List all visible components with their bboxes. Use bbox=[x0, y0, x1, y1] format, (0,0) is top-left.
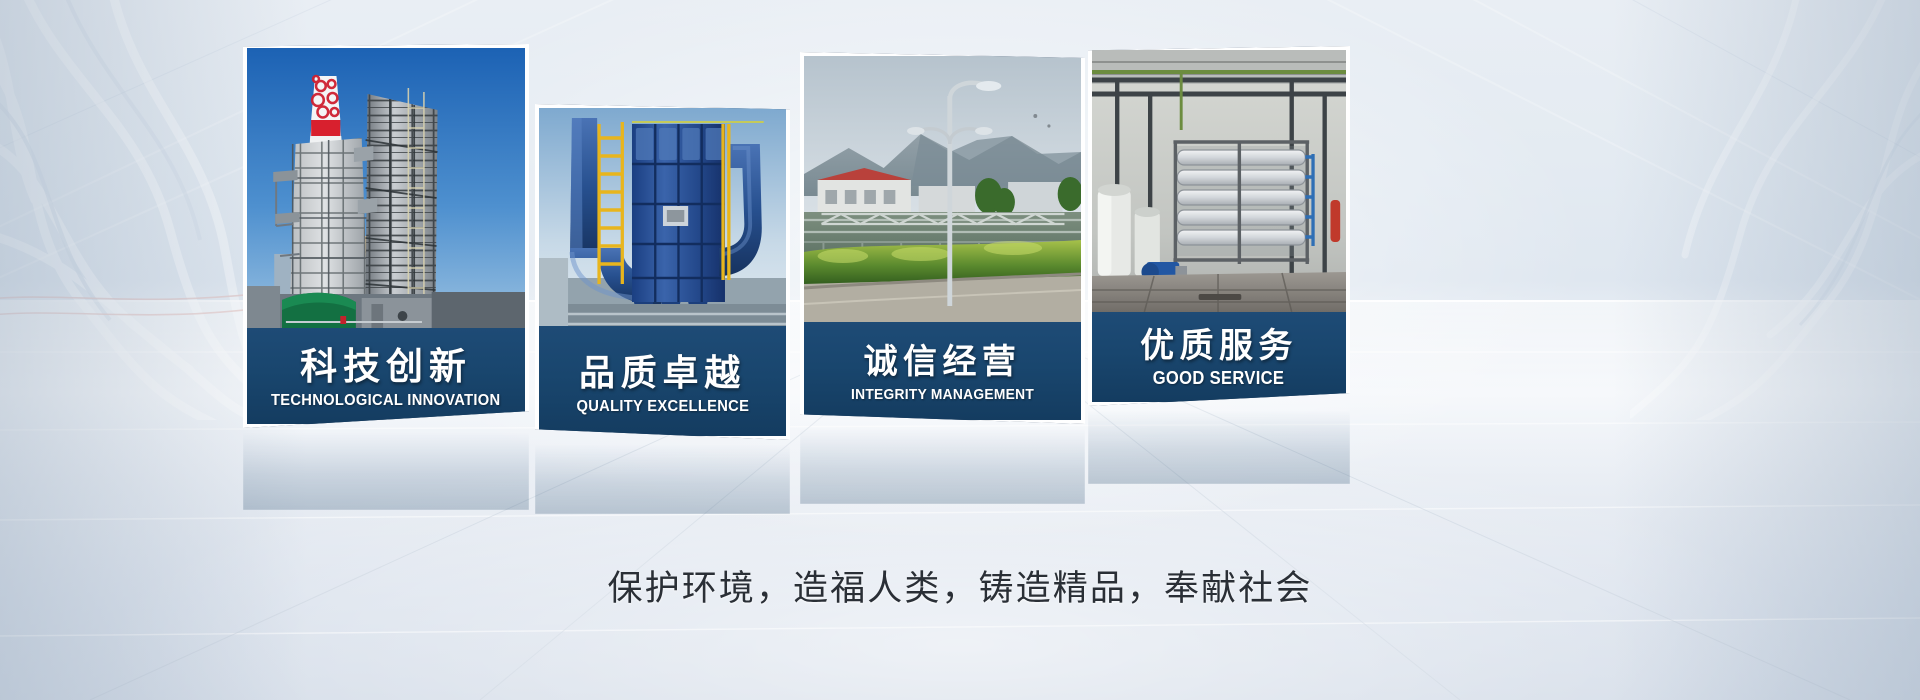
panel-title-zh: 科技创新 bbox=[300, 348, 472, 387]
panel-title-zh: 优质服务 bbox=[1140, 329, 1298, 365]
panel-title-en: TECHNOLOGICAL INNOVATION bbox=[271, 392, 501, 410]
panel-photo-technological-innovation bbox=[247, 48, 525, 336]
panel-reflection-4 bbox=[1088, 410, 1350, 484]
panel-reflection-2 bbox=[535, 444, 790, 514]
banner-stage: 科技创新 TECHNOLOGICAL INNOVATION bbox=[0, 0, 1920, 700]
panel-title-en: INTEGRITY MANAGEMENT bbox=[851, 387, 1034, 404]
panel-photo-quality-excellence bbox=[539, 108, 786, 334]
panel-reflection-1 bbox=[243, 432, 529, 510]
panel-photo-integrity-management bbox=[804, 56, 1081, 322]
panel-photo-good-service bbox=[1092, 50, 1346, 312]
panel-integrity-management[interactable]: 诚信经营 INTEGRITY MANAGEMENT bbox=[800, 52, 1085, 424]
panel-caption-technological-innovation: 科技创新 TECHNOLOGICAL INNOVATION bbox=[247, 328, 525, 424]
panel-caption-good-service: 优质服务 GOOD SERVICE bbox=[1092, 312, 1346, 402]
banner-tagline: 保护环境，造福人类，铸造精品，奉献社会 bbox=[0, 560, 1920, 611]
panel-title-zh: 品质卓越 bbox=[579, 354, 746, 392]
panel-good-service[interactable]: 优质服务 GOOD SERVICE bbox=[1088, 46, 1350, 406]
panel-title-zh: 诚信经营 bbox=[864, 345, 1022, 381]
panel-quality-excellence[interactable]: 品质卓越 QUALITY EXCELLENCE bbox=[535, 104, 790, 440]
panel-title-en: GOOD SERVICE bbox=[1153, 369, 1285, 389]
panel-caption-quality-excellence: 品质卓越 QUALITY EXCELLENCE bbox=[539, 326, 786, 436]
panel-caption-integrity-management: 诚信经营 INTEGRITY MANAGEMENT bbox=[804, 322, 1081, 420]
panel-reflection-3 bbox=[800, 428, 1085, 504]
panel-title-en: QUALITY EXCELLENCE bbox=[576, 398, 749, 416]
panel-technological-innovation[interactable]: 科技创新 TECHNOLOGICAL INNOVATION bbox=[243, 44, 529, 428]
